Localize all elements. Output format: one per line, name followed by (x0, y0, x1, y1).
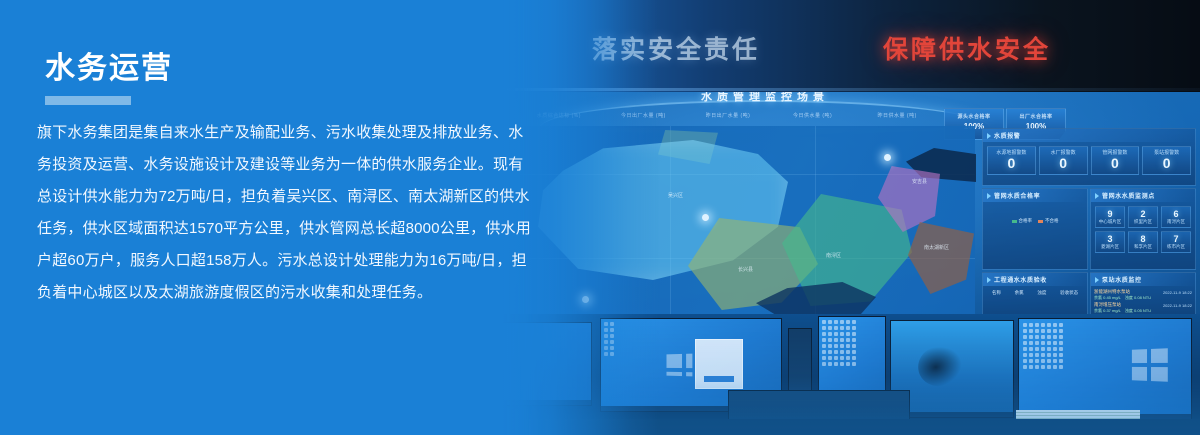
monitoring-point-grid: 9 中心城片区 2 织里片区 6 南浔片区 3 (1091, 202, 1195, 257)
alarm-card-list: 水源地报警数 0 水厂报警数 0 管网报警数 0 泵站报警数 (983, 142, 1195, 179)
panel-acceptance-table: 工程通水水质验收 名称 余氯 浊度 验收状态 (982, 272, 1088, 317)
page-title: 水务运营 (45, 50, 173, 88)
alarm-card-value: 0 (1040, 156, 1087, 171)
panel-title: 泵站水质监控 (1102, 275, 1142, 284)
monitoring-point-cell[interactable]: 2 织里片区 (1128, 206, 1158, 228)
monitoring-point-cell[interactable]: 3 菱湖片区 (1095, 231, 1125, 253)
map-region-label: 安吉县 (912, 178, 927, 185)
panel-title: 管网水质合格率 (994, 191, 1040, 200)
intro-paragraph: 旗下水务集团是集自来水生产及输配业务、污水收集处理及排放业务、水务投资及运营、水… (37, 117, 535, 309)
control-room-photo: 落实安全责任 保障供水安全 水质管理监控场景 水质综合达标 (%) 今日出厂水量… (500, 0, 1200, 435)
map-region-label: 长兴县 (738, 266, 753, 273)
cell-value: 8 (1129, 234, 1157, 244)
map-region-label: 南太湖新区 (924, 244, 949, 251)
table-column-header: 浊度 (1037, 290, 1046, 296)
cell-label: 中心城片区 (1096, 219, 1124, 225)
alarm-card-value: 0 (1143, 156, 1190, 171)
alert-item[interactable]: 南浔增压泵站 2022-11-9 18:22 余氯 0.37 mg/L 浊度 0… (1094, 302, 1192, 314)
panel-header: 水质报警 (983, 129, 1195, 142)
chevron-right-icon (987, 277, 991, 283)
cell-label: 织里片区 (1129, 219, 1157, 225)
alarm-card[interactable]: 水厂报警数 0 (1039, 146, 1088, 175)
panel-title: 水质报警 (994, 131, 1020, 140)
kpi-label: 昨日供水量 (吨) (856, 112, 938, 119)
alarm-card[interactable]: 泵站报警数 0 (1142, 146, 1191, 175)
alert-item[interactable]: 浙能湖州特水泵站 2022-11-9 18:22 余氯 0.45 mg/L 浊度… (1094, 289, 1192, 301)
alert-time: 2022-11-9 18:22 (1163, 290, 1192, 295)
cell-value: 6 (1162, 209, 1190, 219)
slogan-right: 保障供水安全 (883, 30, 1051, 66)
legend-item[interactable]: 合格率 (1012, 218, 1033, 224)
kpi-label: 昨日出厂水量 (吨) (687, 112, 769, 119)
map-region-label: 吴兴区 (668, 192, 683, 199)
cell-label: 南浔片区 (1162, 219, 1190, 225)
cell-value: 9 (1096, 209, 1124, 219)
alarm-card-label: 管网报警数 (1092, 149, 1139, 156)
panel-pump-station-monitor: 泵站水质监控 浙能湖州特水泵站 2022-11-9 18:22 余氯 0.45 … (1090, 272, 1196, 317)
alarm-card-value: 0 (988, 156, 1035, 171)
chevron-right-icon (987, 193, 991, 199)
alarm-card[interactable]: 管网报警数 0 (1091, 146, 1140, 175)
monitoring-point-cell[interactable]: 6 南浔片区 (1161, 206, 1191, 228)
alert-time: 2022-11-9 18:22 (1163, 303, 1192, 308)
legend-item[interactable]: 不合格 (1038, 218, 1059, 224)
table-header-row: 名称 余氯 浊度 验收状态 (983, 286, 1087, 296)
monitoring-point-cell[interactable]: 8 和孚片区 (1128, 231, 1158, 253)
chevron-right-icon (1095, 277, 1099, 283)
chip-label: 源头水合格率 (945, 109, 1003, 120)
legend-label: 合格率 (1019, 218, 1033, 224)
panel-monitoring-points: 管网水水质监测点 9 中心城片区 2 织里片区 6 南浔片 (1090, 188, 1196, 270)
panel-water-quality-alarms: 水质报警 水源地报警数 0 水厂报警数 0 管网报警数 0 (982, 128, 1196, 186)
panel-title: 管网水水质监测点 (1102, 191, 1155, 200)
panel-network-pass-rate: 管网水质合格率 合格率 不合格 (982, 188, 1088, 270)
legend-label: 不合格 (1045, 218, 1059, 224)
chevron-right-icon (1095, 193, 1099, 199)
map-marker[interactable] (884, 154, 891, 161)
alarm-card-label: 水源地报警数 (988, 149, 1035, 156)
cell-value: 3 (1096, 234, 1124, 244)
monitoring-point-cell[interactable]: 7 练市片区 (1161, 231, 1191, 253)
intro-text-block: 水务运营 旗下水务集团是集自来水生产及输配业务、污水收集处理及排放业务、水务投资… (0, 0, 560, 435)
chart-legend: 合格率 不合格 (983, 202, 1087, 224)
table-column-header: 余氯 (1015, 290, 1024, 296)
kpi-label: 今日供水量 (吨) (772, 112, 854, 119)
alarm-card[interactable]: 水源地报警数 0 (987, 146, 1036, 175)
panel-title: 工程通水水质验收 (994, 275, 1047, 284)
map-region-label: 南浔区 (826, 252, 841, 259)
legend-swatch (1012, 220, 1017, 223)
banner-stage: 落实安全责任 保障供水安全 水质管理监控场景 水质综合达标 (%) 今日出厂水量… (0, 0, 1200, 435)
alarm-card-value: 0 (1092, 156, 1139, 171)
alert-metric: 浊度 0.08 NTU (1125, 295, 1151, 301)
panel-header: 管网水质合格率 (983, 189, 1087, 202)
alarm-card-label: 水厂报警数 (1040, 149, 1087, 156)
panel-header: 工程通水水质验收 (983, 273, 1087, 286)
chevron-right-icon (987, 133, 991, 139)
title-underline (45, 96, 131, 105)
monitoring-point-cell[interactable]: 9 中心城片区 (1095, 206, 1125, 228)
alert-metric: 余氯 0.45 mg/L (1094, 295, 1121, 301)
cell-label: 练市片区 (1162, 244, 1190, 250)
cell-label: 和孚片区 (1129, 244, 1157, 250)
panel-header: 泵站水质监控 (1091, 273, 1195, 286)
table-column-header: 名称 (992, 290, 1001, 296)
cell-value: 7 (1162, 234, 1190, 244)
alert-list: 浙能湖州特水泵站 2022-11-9 18:22 余氯 0.45 mg/L 浊度… (1091, 286, 1195, 317)
cell-label: 菱湖片区 (1096, 244, 1124, 250)
table-column-header: 验收状态 (1060, 290, 1078, 296)
map-marker[interactable] (702, 214, 709, 221)
chip-label: 出厂水合格率 (1007, 109, 1065, 120)
legend-swatch (1038, 220, 1043, 223)
panel-header: 管网水水质监测点 (1091, 189, 1195, 202)
cell-value: 2 (1129, 209, 1157, 219)
alarm-card-label: 泵站报警数 (1143, 149, 1190, 156)
